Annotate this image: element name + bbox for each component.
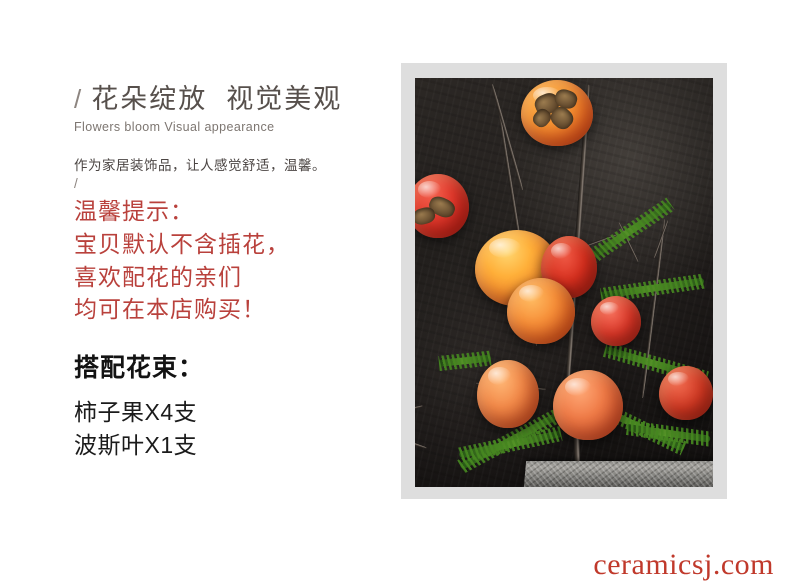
page-title: 花朵绽放 视觉美观 [91,84,342,115]
fruit-persimmon-right-red [591,296,641,346]
headline-subtitle-english: Flowers bloom Visual appearance [74,120,394,134]
fruit-gloss [551,243,572,259]
fruit-gloss [565,378,592,396]
description-block: 作为家居装饰品，让人感觉舒适，温馨。 / [74,156,394,192]
pairing-item-1: 波斯叶X1支 [74,429,394,462]
site-watermark: ceramicsj.com [593,550,774,580]
headline-slash-mark: / [74,86,81,112]
fruit-gloss [488,367,512,385]
notice-line-1: 宝贝默认不含插花， [74,228,394,261]
notice-block: 温馨提示： 宝贝默认不含插花， 喜欢配花的亲们 均可在本店购买！ [74,195,394,326]
product-photo [415,78,713,487]
fruit-gloss [600,302,619,315]
fruit-gloss [668,372,689,386]
stone-slab-base [524,461,713,487]
notice-line-title: 温馨提示： [74,195,394,228]
fruit-persimmon-mid-orange [507,278,575,344]
fruit-gloss [489,238,521,258]
pairing-section-title: 搭配花束： [74,353,394,383]
notice-line-3: 均可在本店购买！ [74,293,394,326]
fruit-gloss [418,181,442,198]
pairing-list: 柿子果X4支 波斯叶X1支 [74,396,394,461]
fruit-persimmon-top-orange [521,80,593,146]
fruit-persimmon-right-edge [659,366,713,420]
pairing-item-0: 柿子果X4支 [74,396,394,429]
description-text: 作为家居装饰品，让人感觉舒适，温馨。 [74,156,394,176]
left-text-column: / 花朵绽放 视觉美观 Flowers bloom Visual appeara… [74,84,394,461]
headline-row: / 花朵绽放 视觉美观 [74,84,394,115]
notice-line-2: 喜欢配花的亲们 [74,261,394,294]
fruit-gloss [519,285,545,302]
description-slash-mark: / [74,176,394,192]
product-photo-frame [401,63,727,499]
fern-frond-small-left [439,355,491,367]
fruit-persimmon-lower-center [553,370,623,440]
fruit-persimmon-lower-left [477,360,539,428]
